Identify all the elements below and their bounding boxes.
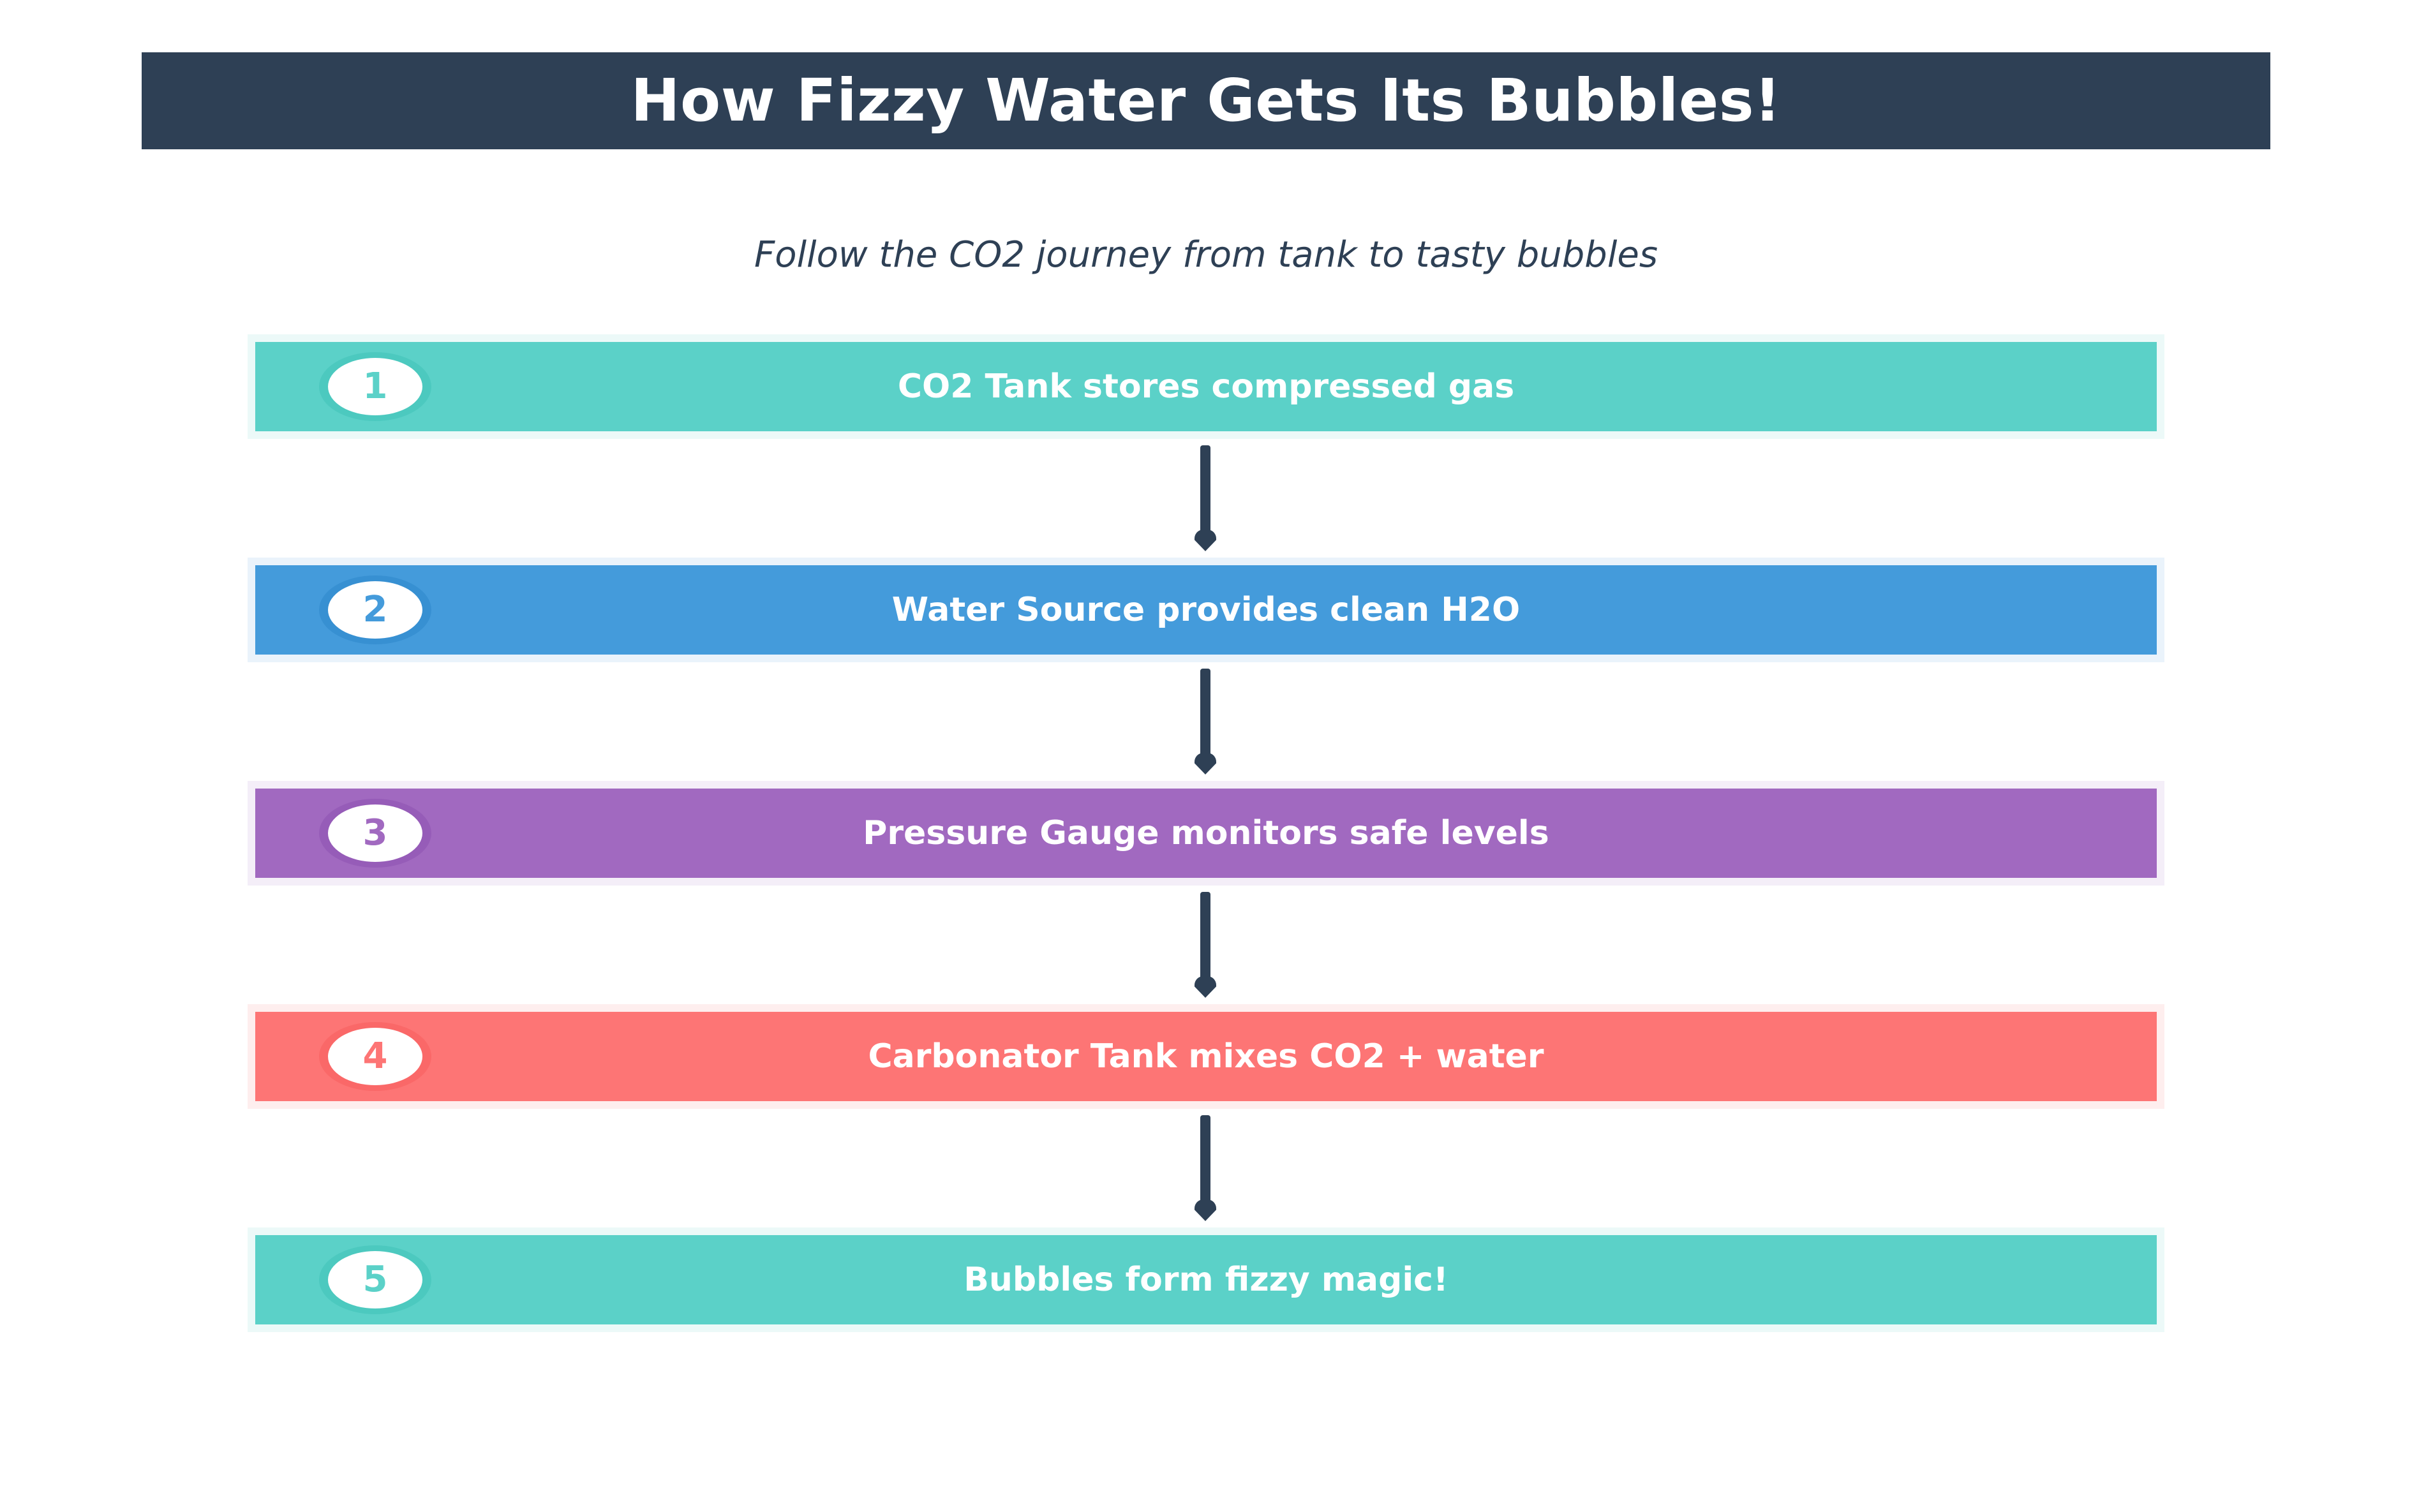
step-bar[interactable]: Carbonator Tank mixes CO2 + water (255, 1012, 2157, 1101)
connector-line (1200, 669, 1210, 758)
arrow-down-icon (1195, 753, 1216, 775)
step-number-badge: 5 (319, 1245, 431, 1314)
step-number-badge: 4 (319, 1022, 431, 1091)
badge-disc: 4 (328, 1028, 422, 1085)
connector-line (1200, 892, 1210, 981)
badge-disc: 2 (328, 581, 422, 639)
flow-step-3[interactable]: Pressure Gauge monitors safe levels3 (255, 789, 2157, 878)
flow-diagram: CO2 Tank stores compressed gas1Water Sou… (0, 0, 2412, 1512)
connector-line (1200, 445, 1210, 535)
step-number: 5 (363, 1262, 388, 1298)
flow-connector-2 (1200, 669, 1210, 775)
infographic-canvas: How Fizzy Water Gets Its Bubbles! Follow… (0, 0, 2412, 1512)
flow-connector-1 (1200, 445, 1210, 551)
step-bar[interactable]: Pressure Gauge monitors safe levels (255, 789, 2157, 878)
step-bar[interactable]: CO2 Tank stores compressed gas (255, 342, 2157, 431)
arrow-down-icon (1195, 976, 1216, 998)
step-label: Bubbles form fizzy magic! (964, 1263, 1448, 1296)
step-label: Water Source provides clean H2O (892, 593, 1520, 626)
step-bar[interactable]: Bubbles form fizzy magic! (255, 1235, 2157, 1324)
step-number-badge: 1 (319, 352, 431, 421)
step-label: CO2 Tank stores compressed gas (898, 370, 1514, 403)
arrow-down-icon (1195, 1199, 1216, 1221)
step-number: 2 (363, 592, 388, 628)
step-number: 4 (363, 1039, 388, 1074)
step-number: 3 (363, 815, 388, 851)
step-label: Carbonator Tank mixes CO2 + water (868, 1040, 1544, 1073)
step-bar[interactable]: Water Source provides clean H2O (255, 565, 2157, 655)
connector-line (1200, 1115, 1210, 1204)
step-label: Pressure Gauge monitors safe levels (863, 817, 1549, 850)
step-number-badge: 2 (319, 575, 431, 644)
step-number: 1 (363, 369, 388, 404)
flow-step-4[interactable]: Carbonator Tank mixes CO2 + water4 (255, 1012, 2157, 1101)
flow-step-5[interactable]: Bubbles form fizzy magic!5 (255, 1235, 2157, 1324)
badge-disc: 5 (328, 1251, 422, 1308)
badge-disc: 1 (328, 358, 422, 415)
badge-disc: 3 (328, 804, 422, 862)
arrow-down-icon (1195, 530, 1216, 551)
flow-connector-3 (1200, 892, 1210, 998)
flow-step-1[interactable]: CO2 Tank stores compressed gas1 (255, 342, 2157, 431)
flow-connector-4 (1200, 1115, 1210, 1221)
step-number-badge: 3 (319, 799, 431, 868)
flow-step-2[interactable]: Water Source provides clean H2O2 (255, 565, 2157, 655)
